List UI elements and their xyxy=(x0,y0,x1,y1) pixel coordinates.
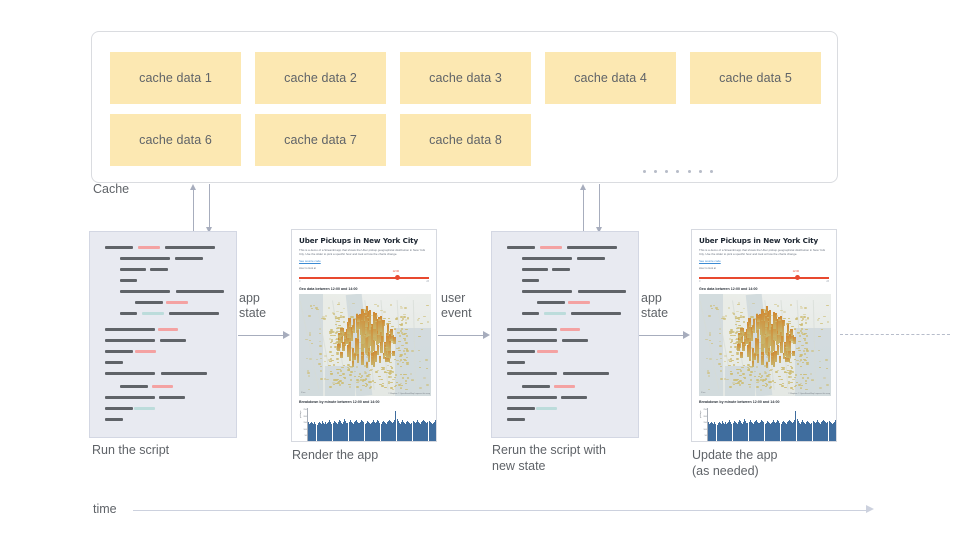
map-pickup-cell xyxy=(419,387,422,389)
code-line-13-2 xyxy=(554,385,575,388)
cache-read-line-left xyxy=(209,184,210,228)
map-pickup-cell xyxy=(390,353,393,355)
map-pickup-cell xyxy=(719,345,722,347)
map-pickup-cell xyxy=(800,307,803,309)
map-pickup-cell xyxy=(761,375,764,377)
step-caption-render-app: Render the app xyxy=(292,447,378,463)
code-line-12-2 xyxy=(563,372,609,375)
app-bar-chart: 0501001502002500102030405060pickupsminut… xyxy=(707,408,836,442)
cache-chip-grid: cache data 1cache data 2cache data 3cach… xyxy=(92,32,837,182)
map-pickup-cell xyxy=(320,358,323,360)
map-pickup-cell xyxy=(737,362,740,364)
map-pickup-cell xyxy=(764,372,767,374)
map-pickup-column xyxy=(374,351,376,363)
map-pickup-column xyxy=(340,352,342,358)
map-pickup-cell xyxy=(707,372,710,374)
map-pickup-cell xyxy=(366,384,369,386)
map-pickup-cell xyxy=(388,318,391,320)
flow-label-user-event: user event xyxy=(441,291,472,321)
map-pickup-cell xyxy=(406,349,409,351)
map-pickup-cell xyxy=(792,389,795,391)
map-pickup-cell xyxy=(398,347,401,349)
map-pickup-cell xyxy=(348,368,351,370)
map-pickup-cell xyxy=(724,355,727,357)
map-pickup-cell xyxy=(362,379,365,381)
chart-y-tick: 50 xyxy=(305,435,307,437)
app-title: Uber Pickups in New York City xyxy=(699,236,829,245)
map-pickup-cell xyxy=(790,353,793,355)
map-pickup-cell xyxy=(787,365,790,367)
map-pickup-cell xyxy=(364,311,367,313)
map-pickup-cell xyxy=(391,367,394,369)
map-pickup-cell xyxy=(732,382,735,384)
slider-range: 023 xyxy=(299,280,429,283)
map-pickup-cell xyxy=(333,313,336,315)
map-pickup-cell xyxy=(779,384,782,386)
map-pickup-cell xyxy=(379,379,382,381)
map-pickup-cell xyxy=(730,373,733,375)
map-pickup-cell xyxy=(389,357,392,359)
map-pickup-cell xyxy=(360,336,363,338)
chart-y-ticks: 050100150200250 xyxy=(708,410,709,442)
map-pickup-cell xyxy=(729,386,732,388)
map-attribution: © Mapbox © OpenStreetMap Improve this ma… xyxy=(388,393,430,395)
flow-arrowhead-2 xyxy=(483,331,490,339)
cache-chip-label: cache data 2 xyxy=(284,71,357,85)
map-pickup-cell xyxy=(798,347,801,349)
app-panel-render: Uber Pickups in New York CityThis is a d… xyxy=(291,229,437,442)
map-pickup-cell xyxy=(342,332,345,334)
map-pickup-cell xyxy=(329,386,332,388)
map-pickup-cell xyxy=(366,356,369,358)
map-pickup-cell xyxy=(762,385,765,387)
map-pickup-cell xyxy=(803,333,806,335)
map-attribution: © Mapbox © OpenStreetMap Improve this ma… xyxy=(788,393,830,395)
cache-chip-6[interactable]: cache data 6 xyxy=(110,114,241,166)
map-pickup-cell xyxy=(827,321,830,323)
map-pickup-cell xyxy=(378,319,381,321)
app-map: 5 km© Mapbox © OpenStreetMap Improve thi… xyxy=(699,294,831,396)
cache-chip-label: cache data 5 xyxy=(719,71,792,85)
code-line-7-3 xyxy=(571,312,621,315)
map-pickup-cell xyxy=(803,350,806,352)
code-line-7-2 xyxy=(142,312,164,315)
map-pickup-column xyxy=(749,342,751,358)
map-pickup-cell xyxy=(338,341,341,343)
map-pickup-cell xyxy=(768,334,771,336)
map-pickup-cell xyxy=(780,310,783,312)
code-line-16-1 xyxy=(507,418,525,421)
map-pickup-cell xyxy=(789,372,792,374)
map-pickup-cell xyxy=(350,367,353,369)
map-pickup-cell xyxy=(800,316,803,318)
map-pickup-cell xyxy=(333,379,336,381)
map-pickup-cell xyxy=(351,347,354,349)
map-pickup-cell xyxy=(737,304,740,306)
map-pickup-cell xyxy=(391,326,394,328)
code-line-6-1 xyxy=(537,301,565,304)
code-line-3-2 xyxy=(150,268,168,271)
map-pickup-cell xyxy=(826,384,829,386)
map-pickup-cell xyxy=(381,369,384,371)
map-pickup-cell xyxy=(405,342,408,344)
map-pickup-cell xyxy=(709,358,712,360)
map-pickup-column xyxy=(740,352,742,358)
code-line-8-2 xyxy=(560,328,580,331)
cache-read-line-right xyxy=(599,184,600,228)
map-pickup-cell xyxy=(332,382,335,384)
map-pickup-cell xyxy=(797,332,800,334)
code-line-4-1 xyxy=(522,279,539,282)
slider-track[interactable] xyxy=(299,277,429,279)
map-pickup-cell xyxy=(407,318,410,320)
diagram-canvas: cache data 1cache data 2cache data 3cach… xyxy=(0,0,960,540)
slider-max: 23 xyxy=(426,280,429,283)
map-pickup-cell xyxy=(801,320,804,322)
cache-chip-5[interactable]: cache data 5 xyxy=(690,52,821,104)
flow-line-3 xyxy=(638,335,684,336)
map-pickup-column xyxy=(769,310,771,331)
map-pickup-cell xyxy=(368,334,371,336)
map-pickup-cell xyxy=(324,355,327,357)
code-line-6-2 xyxy=(568,301,590,304)
map-pickup-column xyxy=(760,314,762,335)
code-line-8-1 xyxy=(105,328,155,331)
map-pickup-cell xyxy=(316,309,319,311)
map-pickup-cell xyxy=(353,352,356,354)
map-pickup-cell xyxy=(818,318,821,320)
map-pickup-cell xyxy=(777,305,780,307)
map-pickup-cell xyxy=(361,375,364,377)
code-line-1-2 xyxy=(540,246,562,249)
map-pickup-cell xyxy=(791,326,794,328)
map-scale-bar: 5 km xyxy=(301,392,305,394)
map-pickup-cell xyxy=(404,307,407,309)
map-pickup-column xyxy=(357,317,359,322)
map-pickup-cell xyxy=(349,374,352,376)
code-line-14-1 xyxy=(105,396,155,399)
map-pickup-cell xyxy=(764,311,767,313)
map-pickup-cell xyxy=(378,346,381,348)
map-pickup-cell xyxy=(309,358,312,360)
code-line-10-2 xyxy=(537,350,558,353)
map-pickup-column xyxy=(381,336,383,352)
map-pickup-cell xyxy=(736,358,739,360)
flow-label-line1: app xyxy=(641,291,668,306)
map-pickup-cell xyxy=(308,315,311,317)
cache-chip-label: cache data 8 xyxy=(429,133,502,147)
map-pickup-cell xyxy=(740,312,743,314)
map-pickup-cell xyxy=(778,376,781,378)
code-line-5-1 xyxy=(522,290,572,293)
map-pickup-cell xyxy=(324,361,327,363)
chart-y-axis-label: pickups xyxy=(300,411,302,418)
code-line-2-1 xyxy=(522,257,572,260)
map-pickup-cell xyxy=(825,359,828,361)
chart-y-axis-label: pickups xyxy=(700,411,702,418)
map-pickup-cell xyxy=(819,387,822,389)
map-pickup-cell xyxy=(750,316,753,318)
flow-label-app-state-2: app state xyxy=(641,291,668,321)
cache-chip-1[interactable]: cache data 1 xyxy=(110,52,241,104)
chart-y-tick: 50 xyxy=(705,435,707,437)
slider-value: 12:00 xyxy=(793,270,800,273)
map-pickup-cell xyxy=(330,346,333,348)
code-line-1-3 xyxy=(567,246,617,249)
cache-chip-3[interactable]: cache data 3 xyxy=(400,52,531,104)
map-pickup-cell xyxy=(775,371,778,373)
cache-chip-label: cache data 1 xyxy=(139,71,212,85)
map-pickup-cell xyxy=(418,318,421,320)
app-bar-chart: 0501001502002500102030405060pickupsminut… xyxy=(307,408,436,442)
cache-chip-label: cache data 6 xyxy=(139,133,212,147)
code-line-9-2 xyxy=(160,339,186,342)
map-pickup-cell xyxy=(788,318,791,320)
map-pickup-cell xyxy=(377,334,380,336)
code-line-10-1 xyxy=(105,350,133,353)
map-pickup-cell xyxy=(380,310,383,312)
map-pickup-cell xyxy=(406,363,409,365)
map-pickup-cell xyxy=(400,316,403,318)
map-pickup-column xyxy=(782,320,784,336)
map-pickup-cell xyxy=(363,309,366,311)
app-slider-label: Hour to look at xyxy=(699,267,829,270)
flow-label-app-state-1: app state xyxy=(239,291,266,321)
time-axis-line xyxy=(133,510,868,511)
slider-value: 12:00 xyxy=(393,270,400,273)
map-pickup-cell xyxy=(708,315,711,317)
app-panel-update: Uber Pickups in New York CityThis is a d… xyxy=(691,229,837,442)
map-pickup-cell xyxy=(759,342,762,344)
map-pickup-cell xyxy=(766,356,769,358)
step-caption-update-line2: (as needed) xyxy=(692,463,759,479)
map-pickup-cell xyxy=(757,380,760,382)
map-pickup-cell xyxy=(723,318,726,320)
code-line-15-2 xyxy=(536,407,557,410)
map-pickup-cell xyxy=(357,380,360,382)
map-pickup-cell xyxy=(400,324,403,326)
map-pickup-cell xyxy=(763,309,766,311)
app-source-link[interactable]: See source code xyxy=(699,259,829,263)
map-pickup-cell xyxy=(383,311,386,313)
map-pickup-cell xyxy=(320,378,323,380)
code-line-12-2 xyxy=(161,372,207,375)
code-line-10-1 xyxy=(507,350,535,353)
map-pickup-cell xyxy=(748,368,751,370)
code-line-7-2 xyxy=(544,312,566,315)
map-pickup-cell xyxy=(423,316,426,318)
map-pickup-cell xyxy=(389,362,392,364)
code-line-14-2 xyxy=(159,396,185,399)
flow-label-line2: state xyxy=(239,306,266,321)
map-pickup-cell xyxy=(783,318,786,320)
code-line-14-1 xyxy=(507,396,557,399)
code-line-15-1 xyxy=(105,407,133,410)
map-pickup-cell xyxy=(403,314,406,316)
map-pickup-cell xyxy=(739,380,742,382)
map-pickup-cell xyxy=(790,382,793,384)
map-pickup-cell xyxy=(756,386,759,388)
app-description: This is a demo of a Streamlit app that s… xyxy=(699,248,829,256)
flow-continuation-dashed xyxy=(840,334,950,335)
code-line-12-1 xyxy=(105,372,155,375)
map-pickup-cell xyxy=(742,332,745,334)
map-pickup-cell xyxy=(804,374,807,376)
code-line-13-1 xyxy=(120,385,148,388)
map-pickup-cell xyxy=(823,377,826,379)
map-pickup-cell xyxy=(789,357,792,359)
map-pickup-cell xyxy=(817,319,820,321)
map-pickup-cell xyxy=(341,382,344,384)
code-line-9-2 xyxy=(562,339,588,342)
map-pickup-column xyxy=(756,339,758,354)
map-pickup-cell xyxy=(804,307,807,309)
code-line-3-2 xyxy=(552,268,570,271)
map-pickup-column xyxy=(382,320,384,336)
map-pickup-cell xyxy=(764,365,767,367)
map-pickup-cell xyxy=(805,380,808,382)
chart-bar xyxy=(435,420,436,442)
map-pickup-cell xyxy=(350,371,353,373)
app-hour-slider[interactable]: 12:00023 xyxy=(299,274,429,283)
map-pickup-cell xyxy=(337,304,340,306)
code-line-1-3 xyxy=(165,246,215,249)
code-line-7-3 xyxy=(169,312,219,315)
cache-chip-7[interactable]: cache data 7 xyxy=(255,114,386,166)
map-pickup-cell xyxy=(784,387,787,389)
map-pickup-cell xyxy=(328,359,331,361)
map-pickup-cell xyxy=(767,375,770,377)
map-pickup-cell xyxy=(374,382,377,384)
map-pickup-cell xyxy=(737,372,740,374)
map-pickup-cell xyxy=(731,341,734,343)
code-line-7-1 xyxy=(522,312,539,315)
map-pickup-column xyxy=(349,342,351,358)
map-pickup-column xyxy=(379,356,381,363)
map-pickup-cell xyxy=(318,363,321,365)
map-pickup-cell xyxy=(742,373,745,375)
map-pickup-cell xyxy=(781,369,784,371)
map-pickup-cell xyxy=(337,327,340,329)
map-pickup-cell xyxy=(762,379,765,381)
step-caption-rerun-line1: Rerun the script with xyxy=(492,442,606,458)
map-pickup-cell xyxy=(375,371,378,373)
map-pickup-cell xyxy=(319,353,322,355)
map-pickup-cell xyxy=(800,324,803,326)
map-pickup-cell xyxy=(330,342,333,344)
map-pickup-cell xyxy=(789,362,792,364)
cache-chip-2[interactable]: cache data 2 xyxy=(255,52,386,104)
map-pickup-cell xyxy=(426,384,429,386)
flow-label-line1: user xyxy=(441,291,472,306)
code-line-9-1 xyxy=(507,339,557,342)
chart-y-tick: 250 xyxy=(703,409,707,411)
map-pickup-cell xyxy=(400,307,403,309)
code-line-16-1 xyxy=(105,418,123,421)
map-pickup-cell xyxy=(338,302,341,304)
map-pickup-cell xyxy=(740,315,743,317)
chart-caption: Breakdown by minute between 12:00 and 14… xyxy=(699,400,829,404)
app-map: 5 km© Mapbox © OpenStreetMap Improve thi… xyxy=(299,294,431,396)
map-pickup-cell xyxy=(728,365,731,367)
code-line-5-1 xyxy=(120,290,170,293)
map-pickup-column xyxy=(784,343,786,356)
map-pickup-cell xyxy=(427,321,430,323)
map-pickup-cell xyxy=(342,373,345,375)
map-pickup-cell xyxy=(733,335,736,337)
code-line-6-1 xyxy=(135,301,163,304)
code-line-12-1 xyxy=(507,372,557,375)
map-pickup-cell xyxy=(753,352,756,354)
app-slider-label: Hour to look at xyxy=(299,267,429,270)
map-pickup-cell xyxy=(405,322,408,324)
map-pickup-column xyxy=(369,310,371,331)
app-description: This is a demo of a Streamlit app that s… xyxy=(299,248,429,256)
map-pickup-column xyxy=(737,344,739,351)
map-pickup-cell xyxy=(823,316,826,318)
chart-y-ticks: 050100150200250 xyxy=(308,410,309,442)
map-pickup-cell xyxy=(731,355,734,357)
map-pickup-cell xyxy=(392,389,395,391)
map-pickup-cell xyxy=(718,363,721,365)
map-pickup-cell xyxy=(307,372,310,374)
map-pickup-cell xyxy=(352,303,355,305)
map-pickup-cell xyxy=(733,364,736,366)
map-pickup-cell xyxy=(390,382,393,384)
code-line-8-2 xyxy=(158,328,178,331)
map-pickup-cell xyxy=(730,346,733,348)
code-line-14-2 xyxy=(561,396,587,399)
app-hour-slider[interactable]: 12:00023 xyxy=(699,274,829,283)
map-pickup-cell xyxy=(738,302,741,304)
map-pickup-cell xyxy=(403,350,406,352)
map-pickup-cell xyxy=(338,319,341,321)
code-line-3-1 xyxy=(120,268,146,271)
chart-y-tick: 200 xyxy=(703,416,707,418)
code-line-13-2 xyxy=(152,385,173,388)
flow-line-2 xyxy=(438,335,484,336)
code-line-6-2 xyxy=(166,301,188,304)
cache-container: cache data 1cache data 2cache data 3cach… xyxy=(91,31,838,183)
cache-chip-4[interactable]: cache data 4 xyxy=(545,52,676,104)
map-pickup-cell xyxy=(760,336,763,338)
slider-range: 023 xyxy=(699,280,829,283)
map-pickup-cell xyxy=(770,386,773,388)
map-pickup-cell xyxy=(337,372,340,374)
cache-chip-label: cache data 3 xyxy=(429,71,502,85)
cache-overflow-ellipsis xyxy=(643,164,713,178)
map-pickup-cell xyxy=(331,355,334,357)
map-pickup-cell xyxy=(749,374,752,376)
map-pickup-cell xyxy=(336,358,339,360)
map-pickup-cell xyxy=(359,342,362,344)
map-pickup-cell xyxy=(807,377,810,379)
map-pickup-cell xyxy=(330,373,333,375)
map-pickup-cell xyxy=(389,372,392,374)
map-pickup-cell xyxy=(425,359,428,361)
cache-chip-8[interactable]: cache data 8 xyxy=(400,114,531,166)
slider-track[interactable] xyxy=(699,277,829,279)
app-source-link[interactable]: See source code xyxy=(299,259,429,263)
script-panel-run xyxy=(89,231,237,438)
map-pickup-cell xyxy=(387,365,390,367)
map-pickup-cell xyxy=(774,382,777,384)
chart-caption: Breakdown by minute between 12:00 and 14… xyxy=(299,400,429,404)
code-line-1-1 xyxy=(507,246,535,249)
map-pickup-cell xyxy=(779,379,782,381)
map-pickup-column xyxy=(781,336,783,352)
map-pickup-cell xyxy=(778,319,781,321)
